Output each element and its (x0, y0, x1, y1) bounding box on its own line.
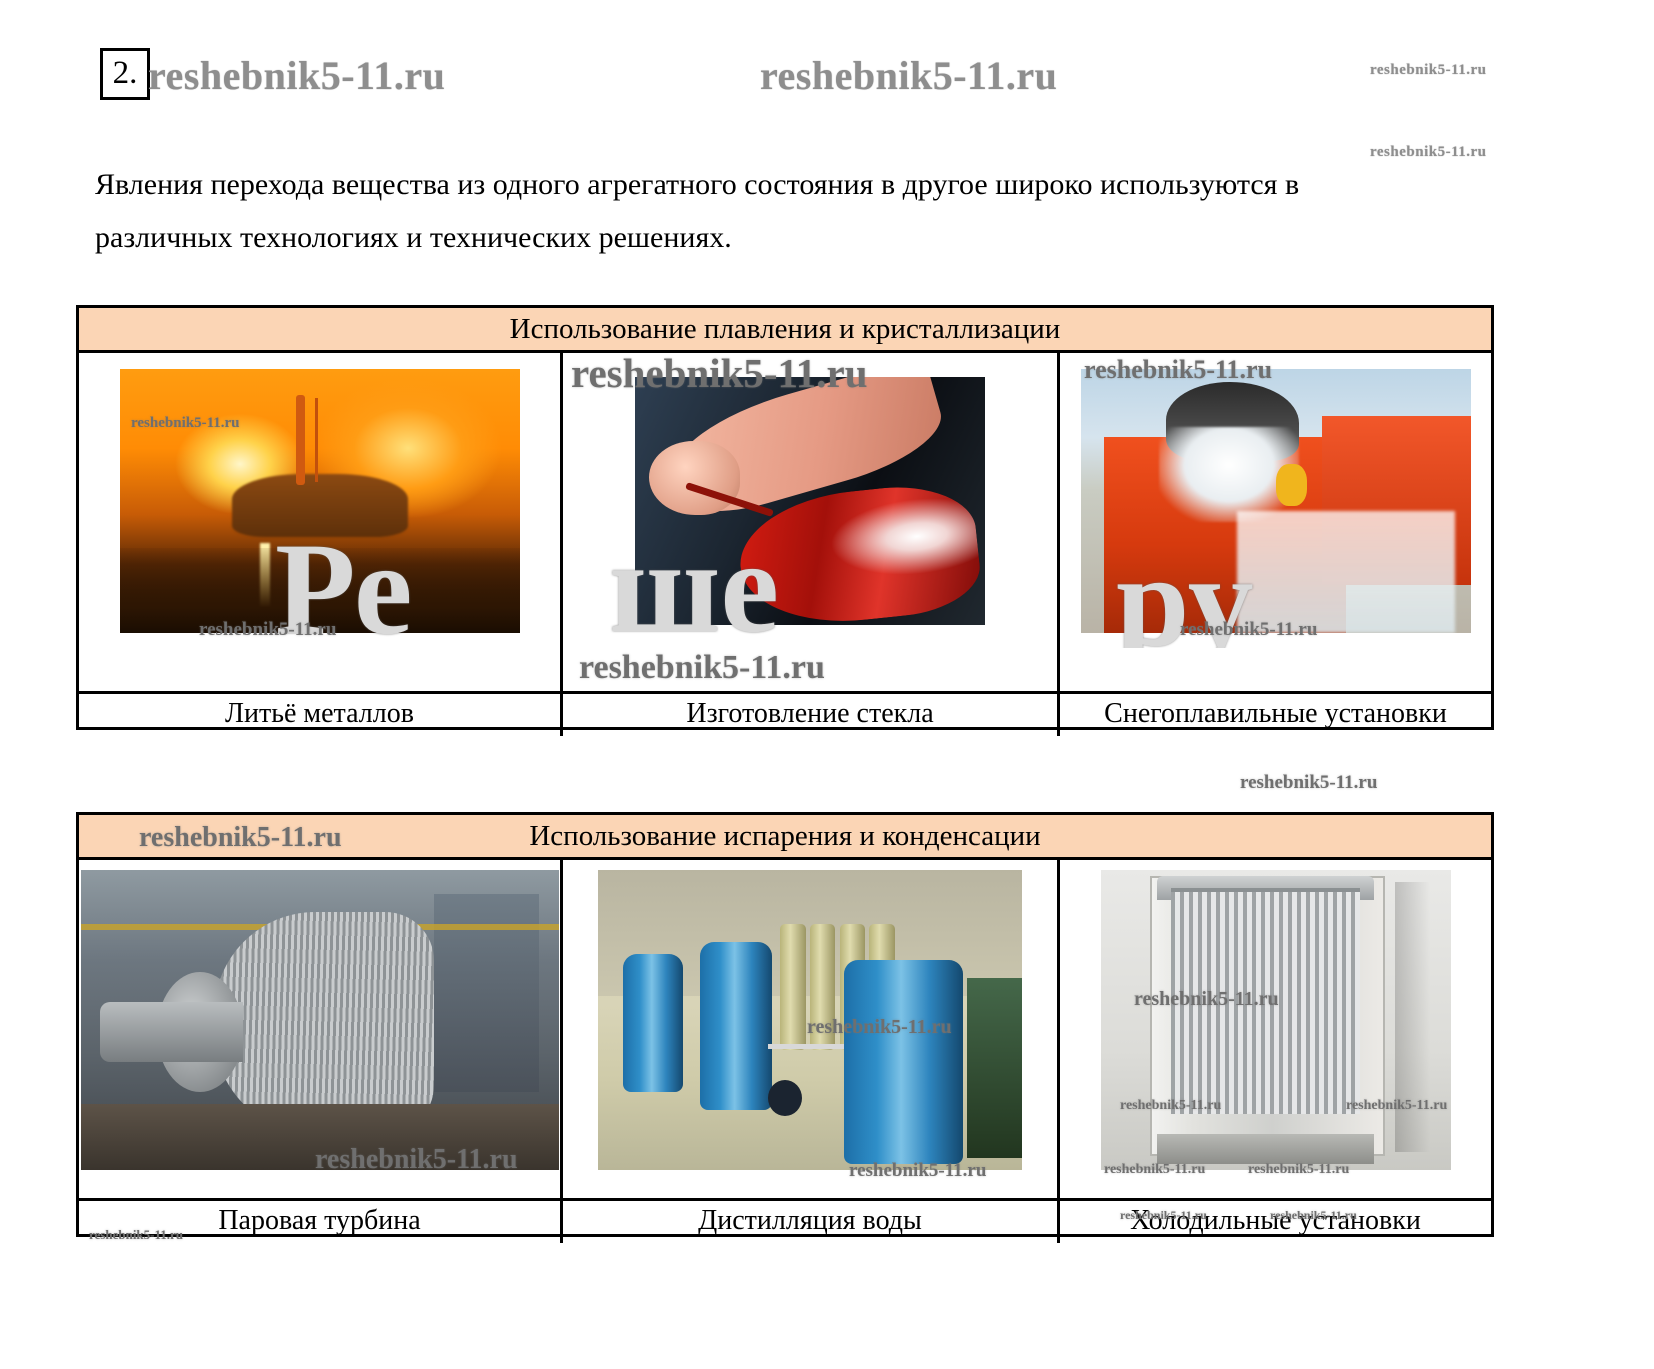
caption-snow-melting: Снегоплавильные установки (1060, 694, 1491, 736)
filter-cartridge-shape (780, 924, 805, 1050)
water-distillation-plant-photo (598, 870, 1022, 1170)
table-melting-caption-row: Литьё металлов Изготовление стекла Снего… (79, 691, 1491, 736)
molten-metal-pour-photo (120, 369, 520, 633)
hand-shape (649, 441, 740, 515)
pump-shape (768, 1080, 802, 1116)
blue-tank-shape (700, 942, 772, 1110)
cabinet-shadow-shape (1395, 882, 1430, 1152)
steam-turbine-photo (81, 870, 559, 1170)
question-number: 2. (100, 48, 150, 100)
cabinet-base-shape (1157, 1134, 1374, 1164)
table-melting-media-row: reshebnik5-11.ru Ре reshebnik5-11.ru res… (79, 353, 1491, 691)
watermark-brand-title-left: reshebnik5-11.ru (148, 52, 445, 99)
caption-glass-making: Изготовление стекла (560, 694, 1060, 736)
table-evaporation-header-label: Использование испарения и конденсации (529, 820, 1040, 852)
watermark-brand-between-tables: reshebnik5-11.ru (1240, 772, 1377, 794)
document-page: 2. reshebnik5-11.ru reshebnik5-11.ru res… (0, 0, 1654, 1369)
table-melting-header: Использование плавления и кристаллизации… (79, 308, 1491, 353)
table-melting-header-label: Использование плавления и кристаллизации (510, 313, 1061, 345)
table-evaporation-media-row: reshebnik5-11.ru (79, 860, 1491, 1198)
blue-tank-shape (623, 954, 682, 1092)
media-glass-making: reshebnik5-11.ru ше (563, 353, 1057, 648)
condenser-coils-shape (1171, 888, 1360, 1114)
document-header: 2. reshebnik5-11.ru reshebnik5-11.ru res… (100, 48, 1560, 118)
turbine-rotor-blades-shape (214, 912, 434, 1134)
caption-refrigeration: reshebnik5-11.ru reshebnik5-11.ru Холоди… (1060, 1201, 1491, 1243)
cell-water-distillation: reshebnik5-11.ru reshebnik5-11.ru (560, 860, 1060, 1198)
caption-refrigeration-label: Холодильные установки (1130, 1205, 1421, 1236)
table-evaporation-caption-row: reshebnik5-11.ru Паровая турбина Дистилл… (79, 1198, 1491, 1243)
molten-stream-shape (260, 543, 270, 633)
table-evaporation-header: Использование испарения и конденсации re… (79, 815, 1491, 860)
caption-water-distillation: Дистилляция воды (560, 1201, 1060, 1243)
filter-cartridge-shape (810, 924, 835, 1050)
media-snow-melting: reshebnik5-11.ru ру (1060, 353, 1491, 648)
cell-glass-making: reshebnik5-11.ru ше reshebnik5-11.ru (560, 353, 1060, 691)
cell-metal-casting: reshebnik5-11.ru Ре reshebnik5-11.ru (79, 353, 560, 691)
intro-paragraph: Явления перехода вещества из одного агре… (95, 158, 1375, 264)
turbine-shaft-shape (100, 1002, 243, 1062)
ladle-hook-shape (296, 395, 305, 485)
watermark-brand-glass-bottom: reshebnik5-11.ru (579, 649, 825, 687)
watermark-brand-evap-head: reshebnik5-11.ru (139, 817, 342, 859)
cell-snow-melting: reshebnik5-11.ru ру reshebnik5-11.ru (1060, 353, 1491, 691)
table-evaporation-condensation: Использование испарения и конденсации re… (76, 812, 1494, 1237)
green-equipment-shape (967, 978, 1022, 1158)
media-steam-turbine: reshebnik5-11.ru (79, 860, 560, 1180)
media-water-distillation: reshebnik5-11.ru reshebnik5-11.ru (563, 860, 1057, 1180)
caption-steam-turbine: reshebnik5-11.ru Паровая турбина (79, 1201, 560, 1243)
watermark-brand-tiny-top: reshebnik5-11.ru (1370, 62, 1487, 79)
glassblowing-photo (635, 377, 985, 625)
machine-hall-floor-shape (81, 1104, 559, 1170)
caption-steam-turbine-label: Паровая турбина (218, 1205, 420, 1236)
refrigeration-unit-photo (1101, 870, 1451, 1170)
worker-shape (1276, 464, 1307, 506)
melt-water-shape (1237, 511, 1455, 632)
table-melting-crystallization: Использование плавления и кристаллизации… (76, 305, 1494, 730)
watermark-brand-tiny-second: reshebnik5-11.ru (1370, 144, 1487, 161)
media-metal-casting: reshebnik5-11.ru (79, 353, 560, 648)
blue-tank-shape (844, 960, 963, 1164)
media-refrigeration: reshebnik5-11.ru reshebnik5-11.ru resheb… (1060, 860, 1491, 1180)
watermark-brand-title-right: reshebnik5-11.ru (760, 52, 1057, 99)
caption-metal-casting: Литьё металлов (79, 694, 560, 736)
watermark-brand-melting-head: reshebnik5-11.ru (199, 342, 308, 353)
cell-refrigeration: reshebnik5-11.ru reshebnik5-11.ru resheb… (1060, 860, 1491, 1198)
cell-steam-turbine: reshebnik5-11.ru (79, 860, 560, 1198)
snow-melting-machine-photo (1081, 369, 1471, 633)
watermark-brand-caption-turbine: reshebnik5-11.ru (89, 1215, 183, 1243)
